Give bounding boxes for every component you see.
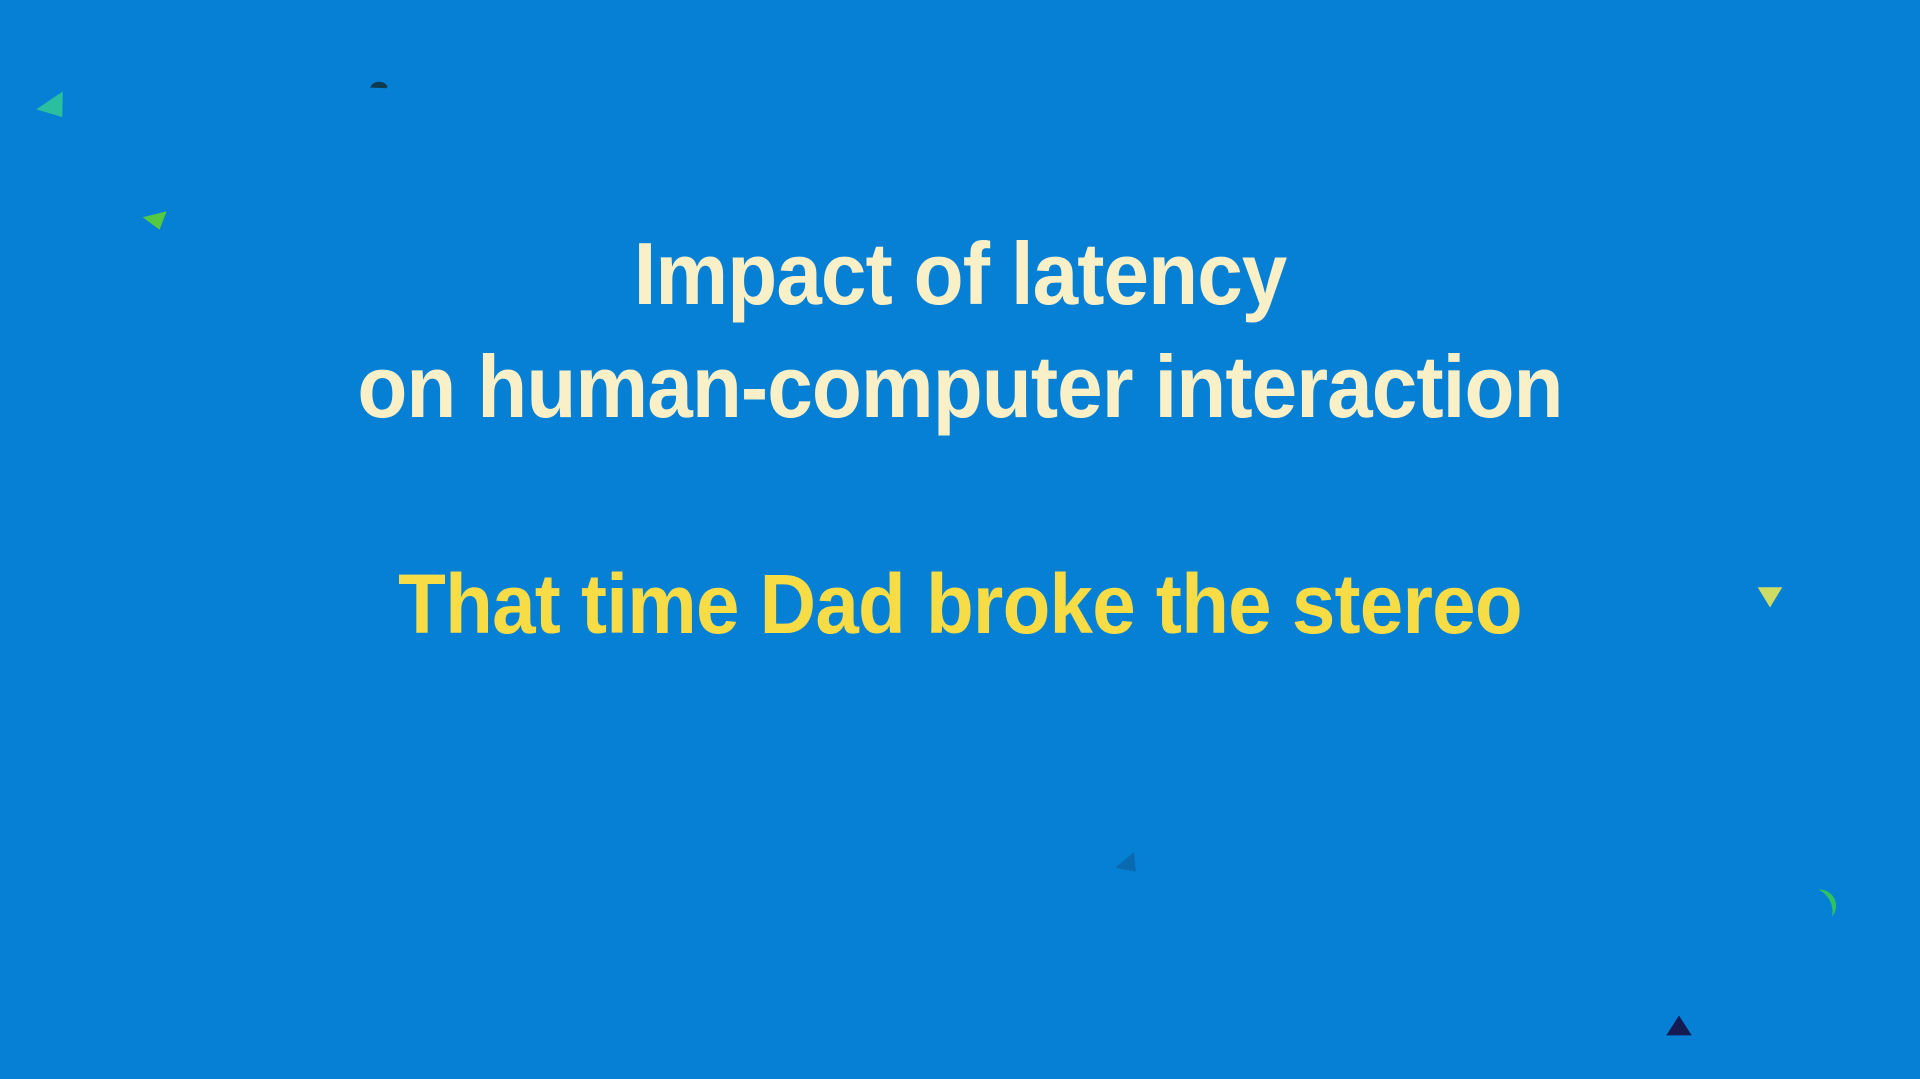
slide-subtitle: That time Dad broke the stereo: [67, 555, 1853, 654]
slide-title: Impact of latency on human-computer inte…: [67, 218, 1853, 443]
slide-content: Impact of latency on human-computer inte…: [0, 0, 1920, 1079]
presentation-slide: Impact of latency on human-computer inte…: [0, 0, 1920, 1079]
